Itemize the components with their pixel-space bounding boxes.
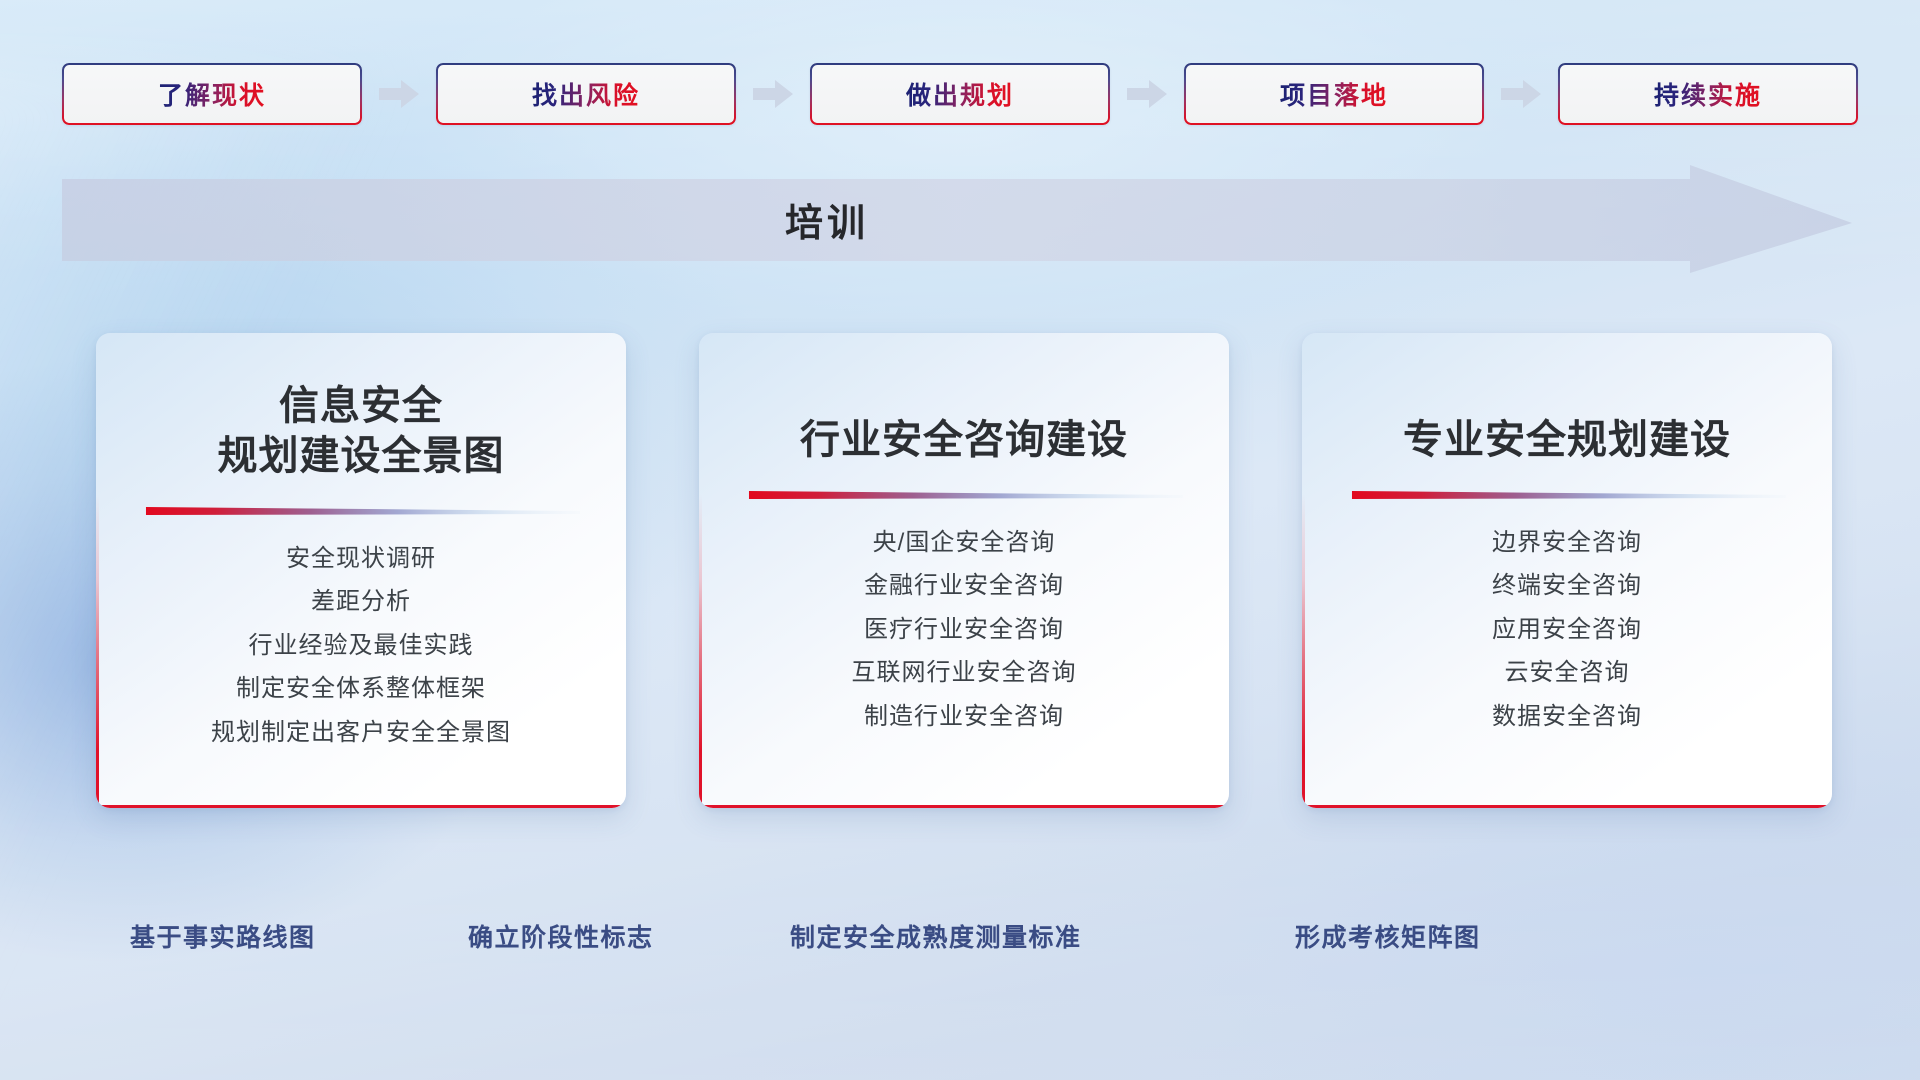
right-arrow-icon [377, 77, 421, 111]
process-step-label: 做出规划 [906, 76, 1014, 112]
caption-1: 确立阶段性标志 [468, 918, 654, 954]
training-banner: 培训 [62, 165, 1852, 273]
list-item: 差距分析 [311, 586, 411, 618]
list-item: 行业经验及最佳实践 [249, 630, 474, 662]
right-arrow-icon [1499, 77, 1543, 111]
process-step-1[interactable]: 找出风险 [436, 63, 736, 125]
card-title: 信息安全 规划建设全景图 [218, 381, 505, 481]
list-item: 数据安全咨询 [1492, 701, 1642, 733]
list-item: 边界安全咨询 [1492, 527, 1642, 559]
process-step-2[interactable]: 做出规划 [810, 63, 1110, 125]
card-title: 行业安全咨询建设 [800, 415, 1128, 465]
process-step-row: 了解现状 找出风险 做出规划 项目落地 持续实施 [62, 63, 1858, 125]
card-title: 专业安全规划建设 [1403, 415, 1731, 465]
process-step-label: 持续实施 [1654, 76, 1762, 112]
card-item-list: 安全现状调研 差距分析 行业经验及最佳实践 制定安全体系整体框架 规划制定出客户… [211, 543, 511, 749]
card-item-list: 边界安全咨询 终端安全咨询 应用安全咨询 云安全咨询 数据安全咨询 [1492, 527, 1642, 733]
right-arrow-icon [751, 77, 795, 111]
list-item: 制造行业安全咨询 [864, 701, 1064, 733]
card-divider-icon [142, 503, 580, 519]
process-step-3[interactable]: 项目落地 [1184, 63, 1484, 125]
card-professional-security-planning[interactable]: 专业安全规划建设 边界安全咨 [1302, 333, 1832, 808]
list-item: 央/国企安全咨询 [873, 527, 1056, 559]
card-item-list: 央/国企安全咨询 金融行业安全咨询 医疗行业安全咨询 互联网行业安全咨询 制造行… [852, 527, 1077, 733]
list-item: 金融行业安全咨询 [864, 570, 1064, 602]
process-step-4[interactable]: 持续实施 [1558, 63, 1858, 125]
caption-row: 基于事实路线图 确立阶段性标志 制定安全成熟度测量标准 形成考核矩阵图 [0, 918, 1920, 970]
process-step-label: 找出风险 [532, 76, 640, 112]
list-item: 安全现状调研 [286, 543, 436, 575]
list-item: 规划制定出客户安全全景图 [211, 717, 511, 749]
list-item: 终端安全咨询 [1492, 570, 1642, 602]
caption-2: 制定安全成熟度测量标准 [790, 918, 1082, 954]
process-step-0[interactable]: 了解现状 [62, 63, 362, 125]
card-industry-security-consulting[interactable]: 行业安全咨询建设 央/国企安 [699, 333, 1229, 808]
card-row: 信息安全 规划建设全景图 安 [96, 333, 1832, 808]
process-step-label: 项目落地 [1280, 76, 1388, 112]
list-item: 应用安全咨询 [1492, 614, 1642, 646]
card-information-security-blueprint[interactable]: 信息安全 规划建设全景图 安 [96, 333, 626, 808]
list-item: 互联网行业安全咨询 [852, 657, 1077, 689]
caption-0: 基于事实路线图 [130, 918, 316, 954]
caption-3: 形成考核矩阵图 [1295, 918, 1481, 954]
slide-canvas: 了解现状 找出风险 做出规划 项目落地 持续实施 [0, 0, 1920, 1080]
list-item: 制定安全体系整体框架 [236, 673, 486, 705]
card-divider-icon [745, 487, 1183, 503]
training-banner-label: 培训 [62, 165, 1592, 273]
card-divider-icon [1348, 487, 1786, 503]
list-item: 医疗行业安全咨询 [864, 614, 1064, 646]
list-item: 云安全咨询 [1505, 657, 1630, 689]
process-step-label: 了解现状 [158, 76, 266, 112]
right-arrow-icon [1125, 77, 1169, 111]
